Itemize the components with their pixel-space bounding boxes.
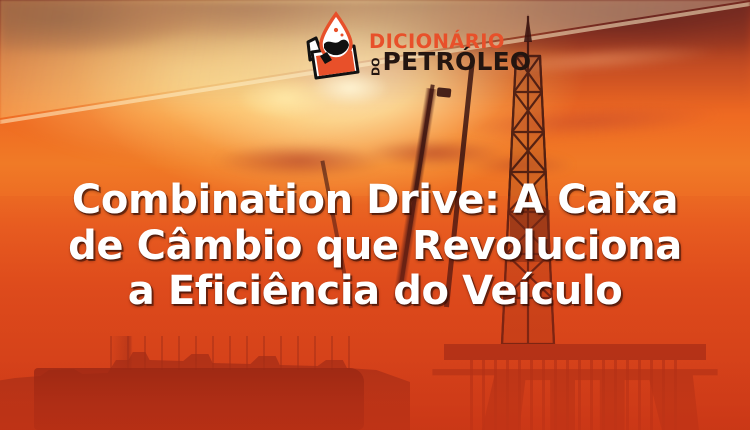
logo-wordmark: DICIONÁRIO DO PETRÓLEO [369, 16, 531, 72]
oil-drop-barrel-icon [296, 8, 366, 80]
logo-line-2: PETRÓLEO [382, 51, 531, 73]
bottom-haze [0, 360, 750, 430]
headline-line-1: Combination Drive: A Caixa [0, 178, 750, 224]
site-logo[interactable]: DICIONÁRIO DO PETRÓLEO [296, 6, 486, 82]
headline-title: Combination Drive: A Caixa de Câmbio que… [0, 178, 750, 315]
headline-line-2: de Câmbio que Revoluciona [0, 224, 750, 270]
crane-boom-left-tip [437, 87, 452, 97]
platform-deck [444, 344, 706, 360]
logo-line-2-row: DO PETRÓLEO [369, 51, 531, 73]
logo-connector: DO [372, 57, 381, 75]
headline-line-3: a Eficiência do Veículo [0, 269, 750, 315]
banner-image: DICIONÁRIO DO PETRÓLEO Combination Drive… [0, 0, 750, 430]
